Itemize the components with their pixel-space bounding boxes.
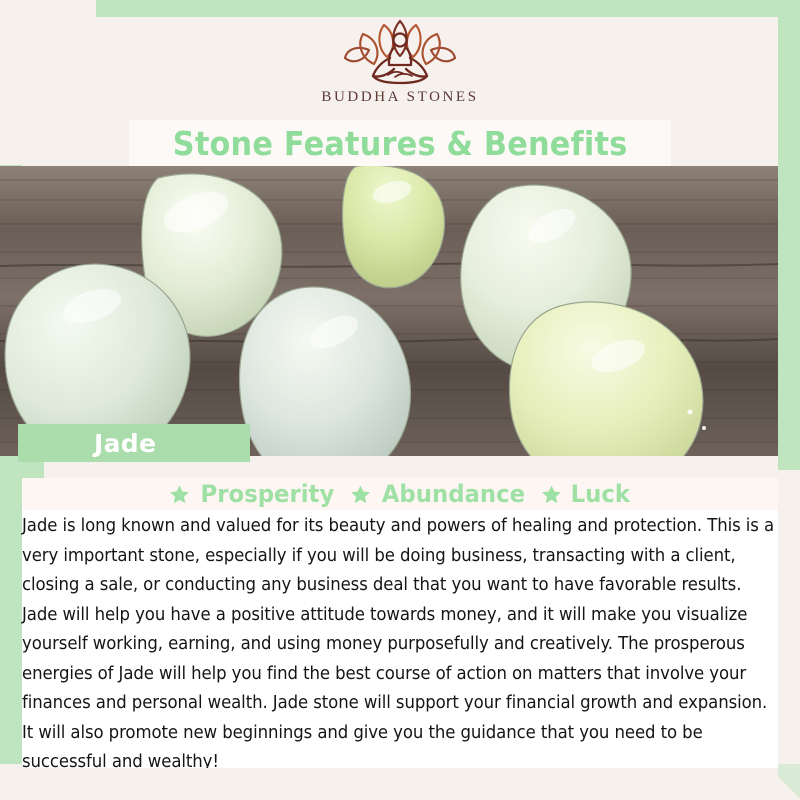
lotus-meditation-icon xyxy=(325,18,475,86)
keyword-list: Prosperity Abundance Luck xyxy=(22,478,778,510)
keyword-item-prosperity: Prosperity xyxy=(169,480,338,508)
jade-stones-photo xyxy=(0,166,778,456)
description-block: Jade is long known and valued for its be… xyxy=(22,510,778,768)
keyword-label: Prosperity xyxy=(200,480,334,508)
star-icon xyxy=(350,484,371,505)
stone-name-band: Jade xyxy=(18,424,250,462)
keyword-item-luck: Luck xyxy=(541,480,632,508)
bottom-fill xyxy=(22,768,778,800)
frame-top-left-gap xyxy=(0,0,96,17)
keyword-label: Luck xyxy=(570,480,629,508)
keyword-label: Abundance xyxy=(381,480,524,508)
keyword-item-abundance: Abundance xyxy=(350,480,529,508)
star-icon xyxy=(169,484,190,505)
frame-top-band xyxy=(96,0,800,17)
stone-info-card: BUDDHA STONES Stone Features & Benefits xyxy=(0,0,800,800)
brand-name: BUDDHA STONES xyxy=(321,89,478,106)
description-text: Jade is long known and valued for its be… xyxy=(22,512,779,778)
stone-name: Jade xyxy=(94,429,156,458)
section-title-band: Stone Features & Benefits xyxy=(129,120,671,166)
star-icon xyxy=(541,484,562,505)
page-title: Stone Features & Benefits xyxy=(173,124,628,163)
brand-logo: BUDDHA STONES xyxy=(0,18,800,118)
photo-illustration xyxy=(0,166,778,456)
